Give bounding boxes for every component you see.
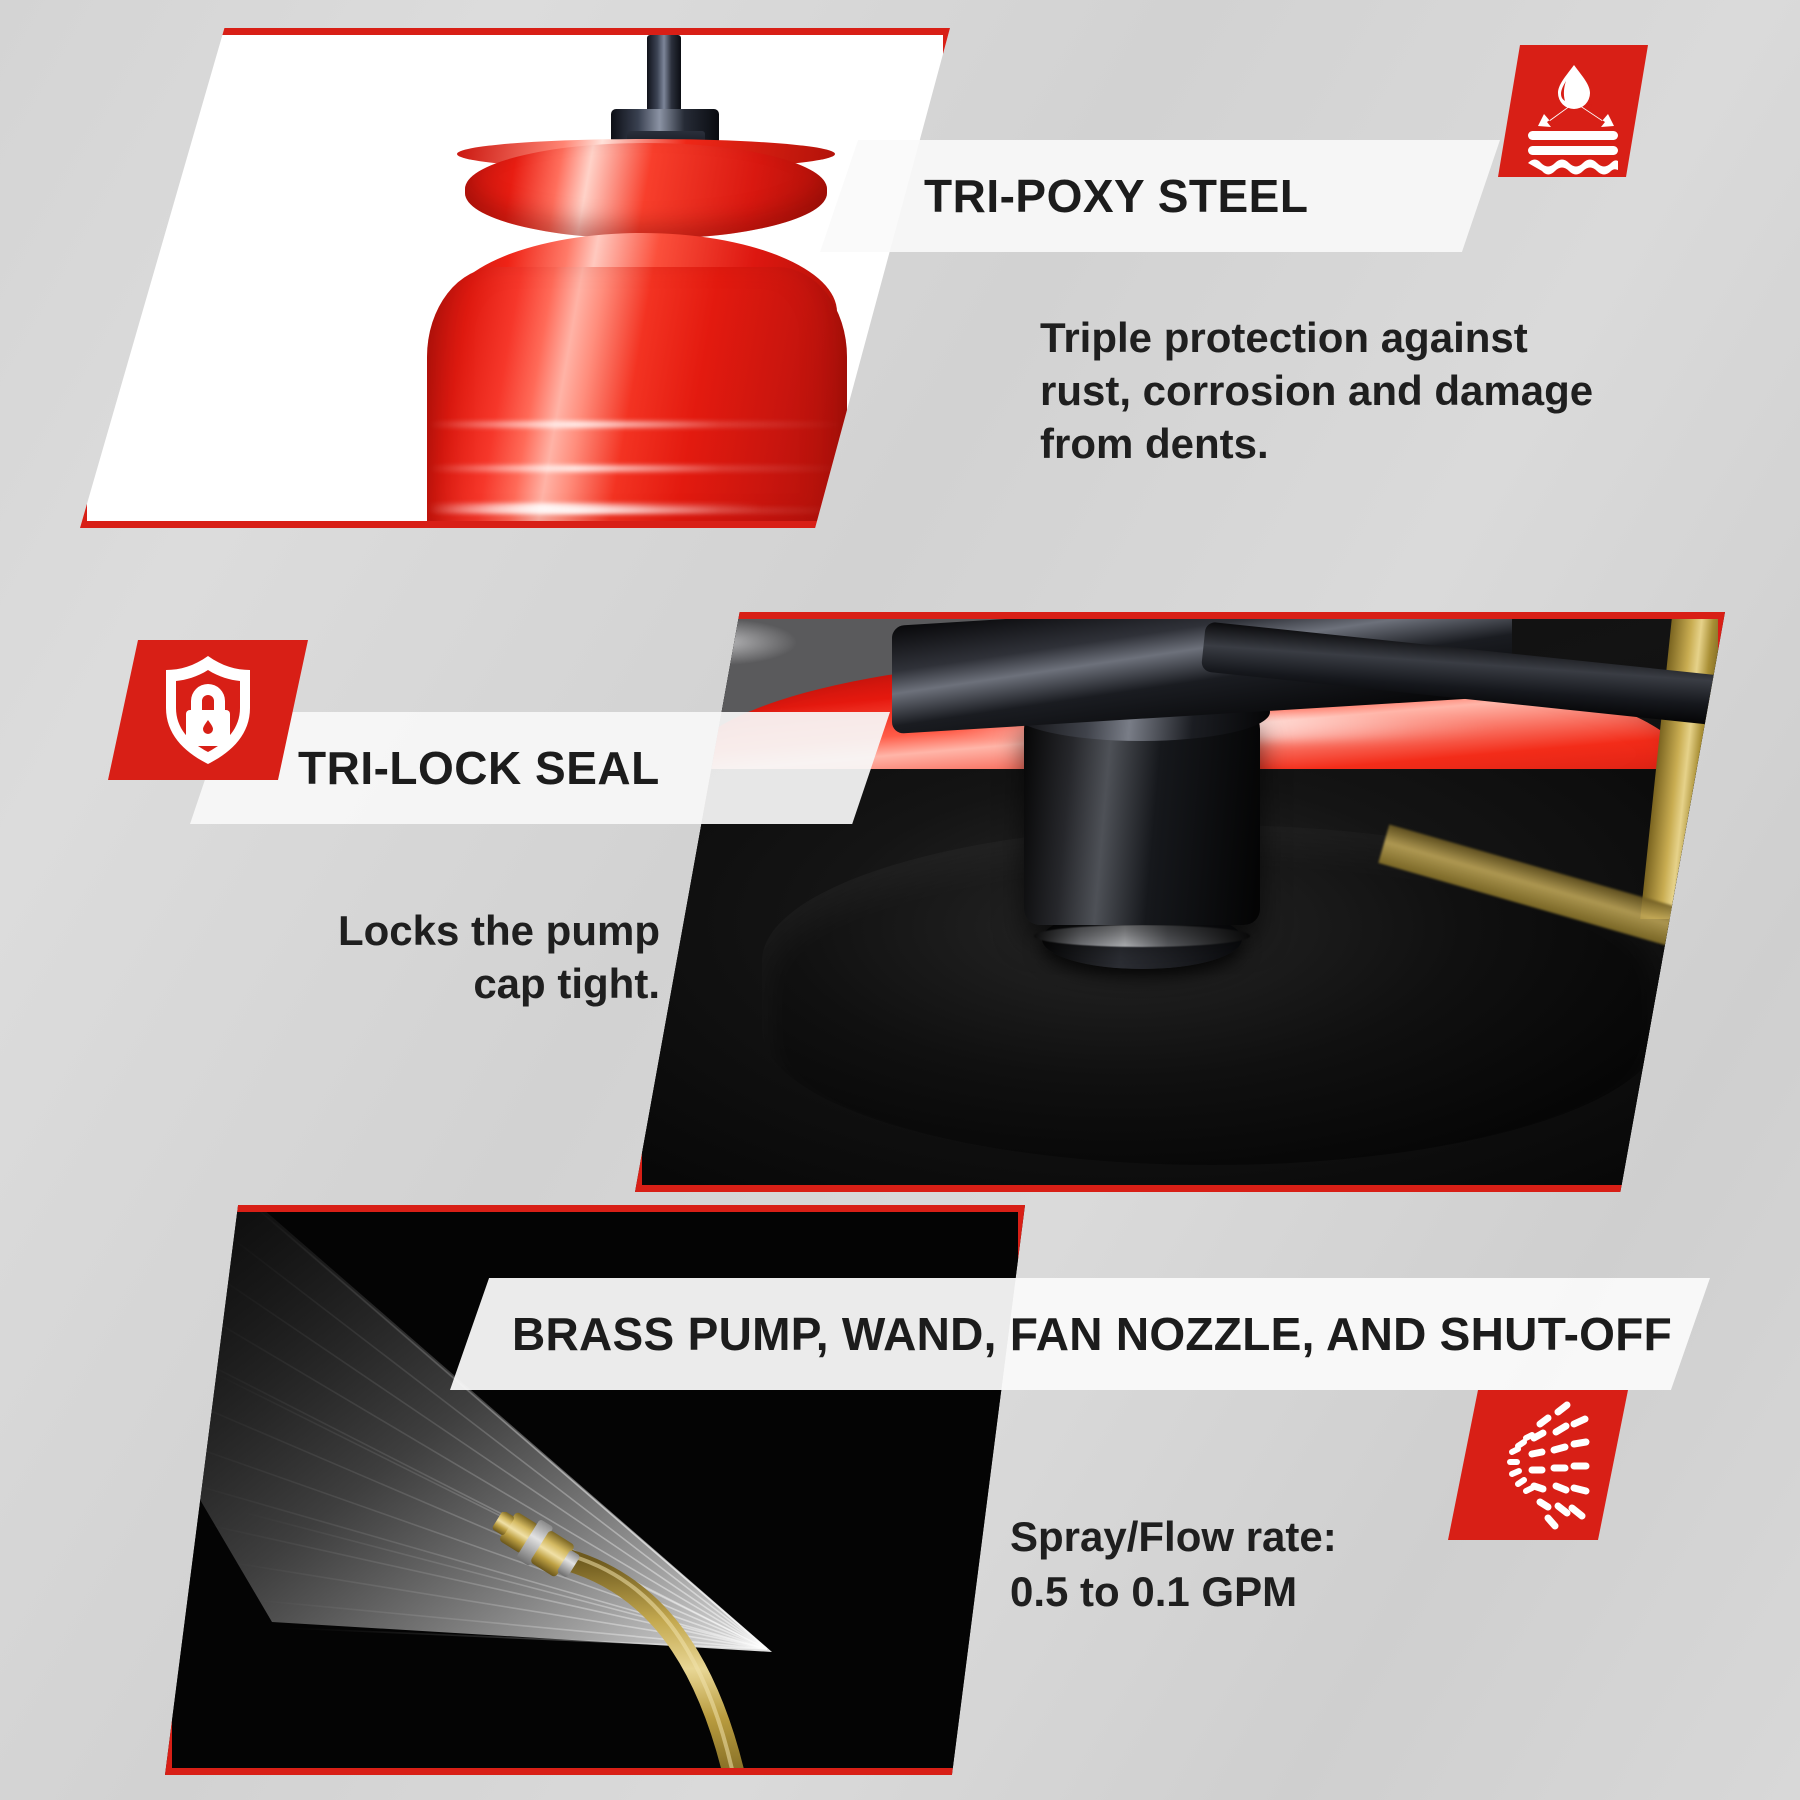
- feature-photo-tri-lock-seal: [635, 612, 1725, 1192]
- feature-body-line: Triple protection against: [1040, 312, 1680, 365]
- feature-body-line: from dents.: [1040, 418, 1680, 471]
- brass-wand-graphic: [472, 1512, 892, 1775]
- water-repellent-layers-icon: [1498, 45, 1648, 177]
- shield-lock-icon: [108, 640, 308, 780]
- tank-rib: [429, 507, 845, 514]
- spray-fan-pattern-icon: [1448, 1390, 1628, 1540]
- tank-rib: [429, 421, 845, 428]
- feature-heading-brass-pump-wand: BRASS PUMP, WAND, FAN NOZZLE, AND SHUT-O…: [512, 1307, 1672, 1361]
- feature-body-tri-lock-seal: Locks the pump cap tight.: [200, 905, 660, 1011]
- feature-body-line: Locks the pump: [200, 905, 660, 958]
- feature-body-line: 0.5 to 0.1 GPM: [1010, 1565, 1530, 1620]
- feature-body-tri-poxy-steel: Triple protection against rust, corrosio…: [1040, 312, 1680, 471]
- tank-rib: [429, 465, 845, 472]
- tank-cap: [465, 143, 827, 239]
- feature-body-line: cap tight.: [200, 958, 660, 1011]
- feature-heading-tri-poxy-steel: TRI-POXY STEEL: [924, 169, 1308, 223]
- feature-heading-tri-lock-seal: TRI-LOCK SEAL: [298, 741, 660, 795]
- tank-body: [427, 267, 847, 528]
- infographic-canvas: TRI-POXY STEEL Triple protection against…: [0, 0, 1800, 1800]
- feature-body-line: rust, corrosion and damage: [1040, 365, 1680, 418]
- feature-photo-tri-poxy-steel: [80, 28, 950, 528]
- photo-art-red-tank: [87, 35, 943, 521]
- feature-heading-banner-brass-pump-wand: BRASS PUMP, WAND, FAN NOZZLE, AND SHUT-O…: [450, 1278, 1710, 1390]
- feature-heading-banner-tri-poxy-steel: TRI-POXY STEEL: [820, 140, 1500, 252]
- photo-art-pump-cap: [642, 619, 1718, 1185]
- seal-ring: [1034, 925, 1250, 947]
